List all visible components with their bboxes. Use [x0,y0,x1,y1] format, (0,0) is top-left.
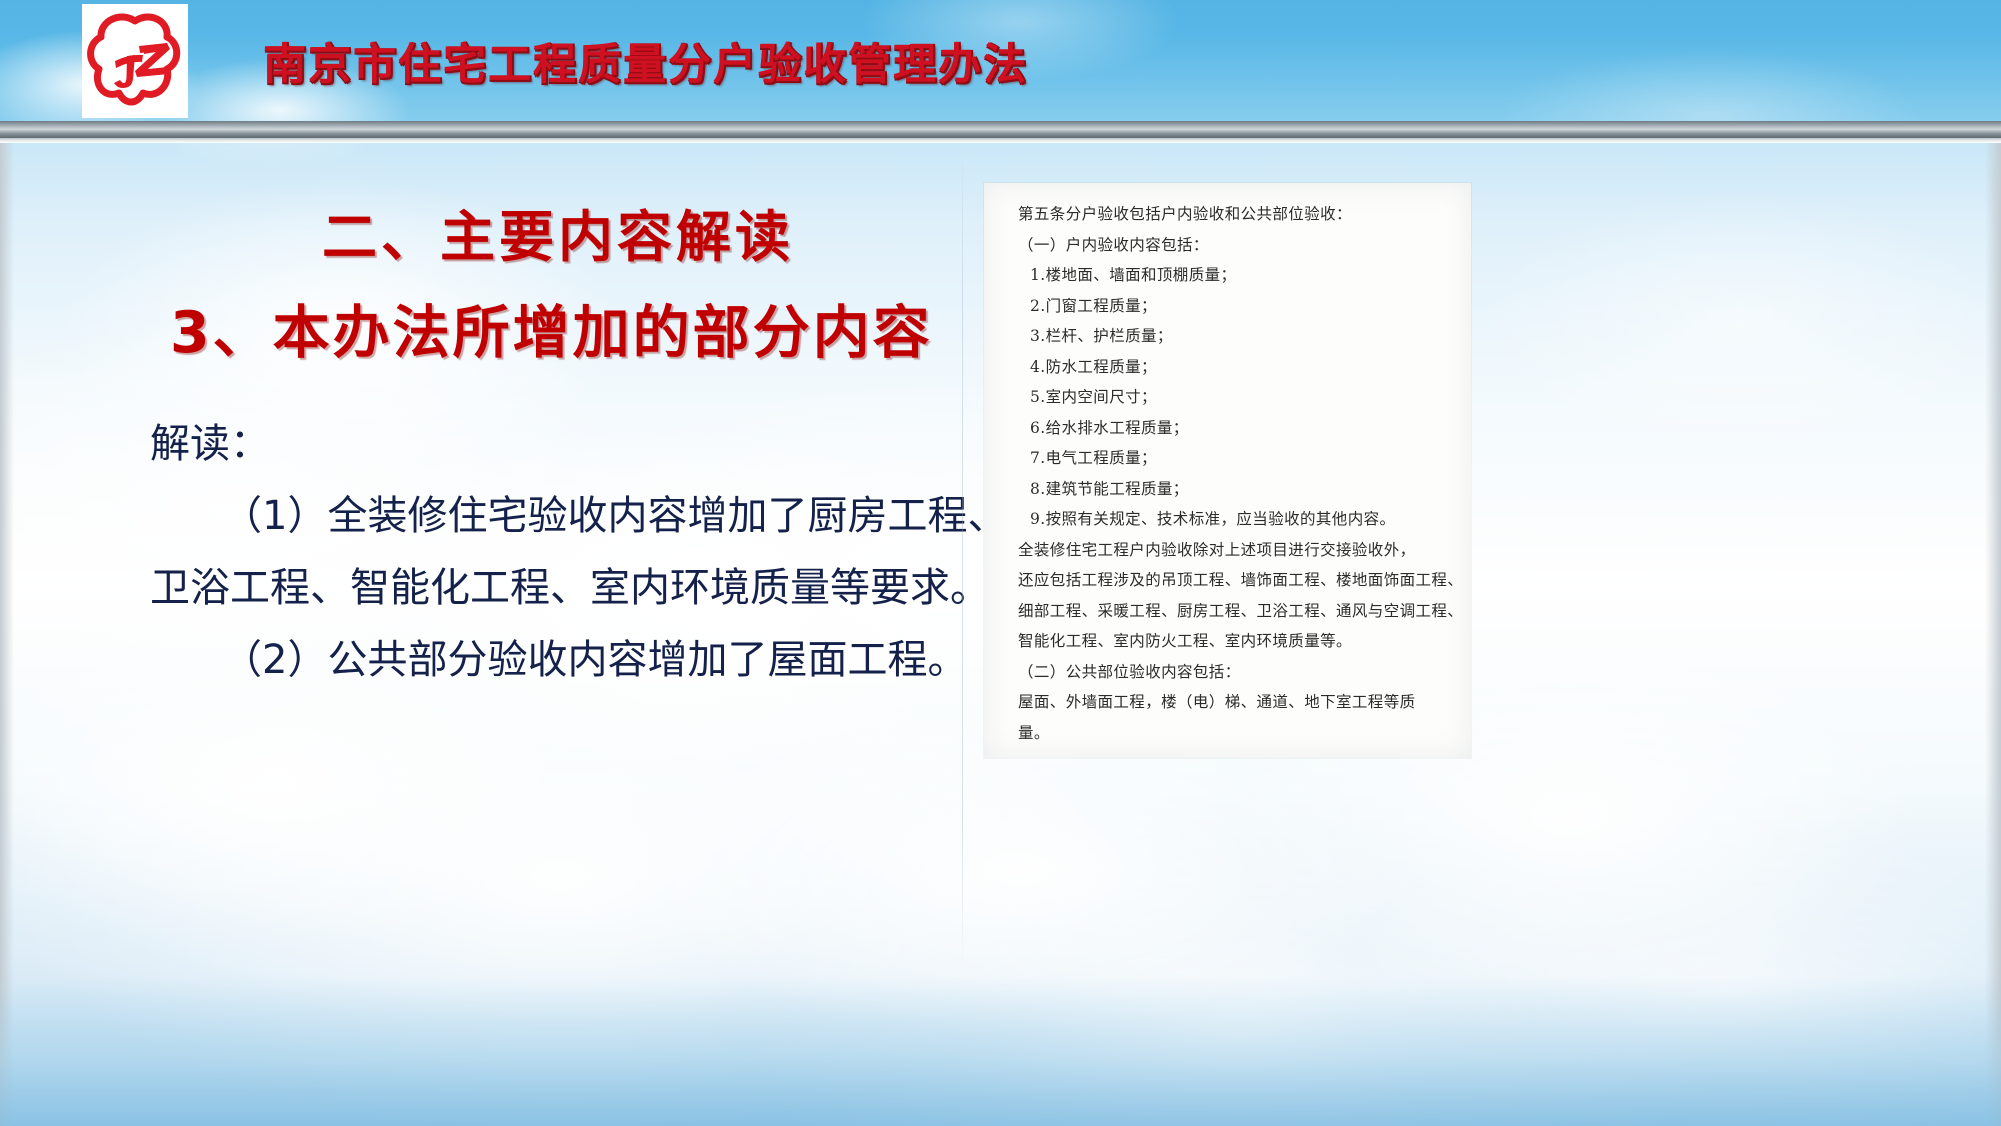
slide-bottom-gradient [0,976,2001,1126]
body-line: （1）全装修住宅验收内容增加了厨房工程、 [150,480,960,552]
presentation-slide: 南京市住宅工程质量分户验收管理办法 二、主要内容解读 3、本办法所增加的部分内容… [0,0,2001,1126]
header-cloud-decoration [1500,50,1920,121]
doc-line: （二）公共部位验收内容包括： [1004,657,1453,688]
organization-logo [82,4,188,118]
document-scan-panel: 第五条分户验收包括户内验收和公共部位验收： （一）户内验收内容包括： 1.楼地面… [984,183,1471,758]
plum-blossom-jz-icon [87,9,183,113]
doc-line: 8.建筑节能工程质量； [1004,474,1453,505]
doc-line: 4.防水工程质量； [1004,352,1453,383]
doc-line: 5.室内空间尺寸； [1004,382,1453,413]
doc-line: 9.按照有关规定、技术标准，应当验收的其他内容。 [1004,504,1453,535]
body-line: 卫浴工程、智能化工程、室内环境质量等要求。 [150,552,960,624]
doc-line: 全装修住宅工程户内验收除对上述项目进行交接验收外， [1004,535,1453,566]
content-divider [962,143,963,973]
doc-line: （一）户内验收内容包括： [1004,230,1453,261]
doc-line: 屋面、外墙面工程，楼（电）梯、通道、地下室工程等质 [1004,687,1453,718]
doc-line: 第五条分户验收包括户内验收和公共部位验收： [1004,199,1453,230]
doc-line: 3.栏杆、护栏质量； [1004,321,1453,352]
header-divider-bar [0,121,2001,138]
section-heading: 二、主要内容解读 [322,192,794,272]
doc-line: 2.门窗工程质量； [1004,291,1453,322]
doc-line: 1.楼地面、墙面和顶棚质量； [1004,260,1453,291]
body-line: 解读： [150,408,960,480]
body-line: （2）公共部分验收内容增加了屋面工程。 [150,624,960,696]
subsection-heading: 3、本办法所增加的部分内容 [170,287,933,369]
doc-line: 7.电气工程质量； [1004,443,1453,474]
body-text-block: 解读： （1）全装修住宅验收内容增加了厨房工程、 卫浴工程、智能化工程、室内环境… [150,408,960,696]
page-title: 南京市住宅工程质量分户验收管理办法 [263,30,1028,92]
doc-line: 量。 [1004,718,1453,749]
doc-line: 6.给水排水工程质量； [1004,413,1453,444]
doc-line: 细部工程、采暖工程、厨房工程、卫浴工程、通风与空调工程、 [1004,596,1453,627]
doc-line: 还应包括工程涉及的吊顶工程、墙饰面工程、楼地面饰面工程、 [1004,565,1453,596]
document-scan-text: 第五条分户验收包括户内验收和公共部位验收： （一）户内验收内容包括： 1.楼地面… [984,183,1471,758]
header-divider-highlight [0,138,2001,143]
doc-line: 智能化工程、室内防火工程、室内环境质量等。 [1004,626,1453,657]
